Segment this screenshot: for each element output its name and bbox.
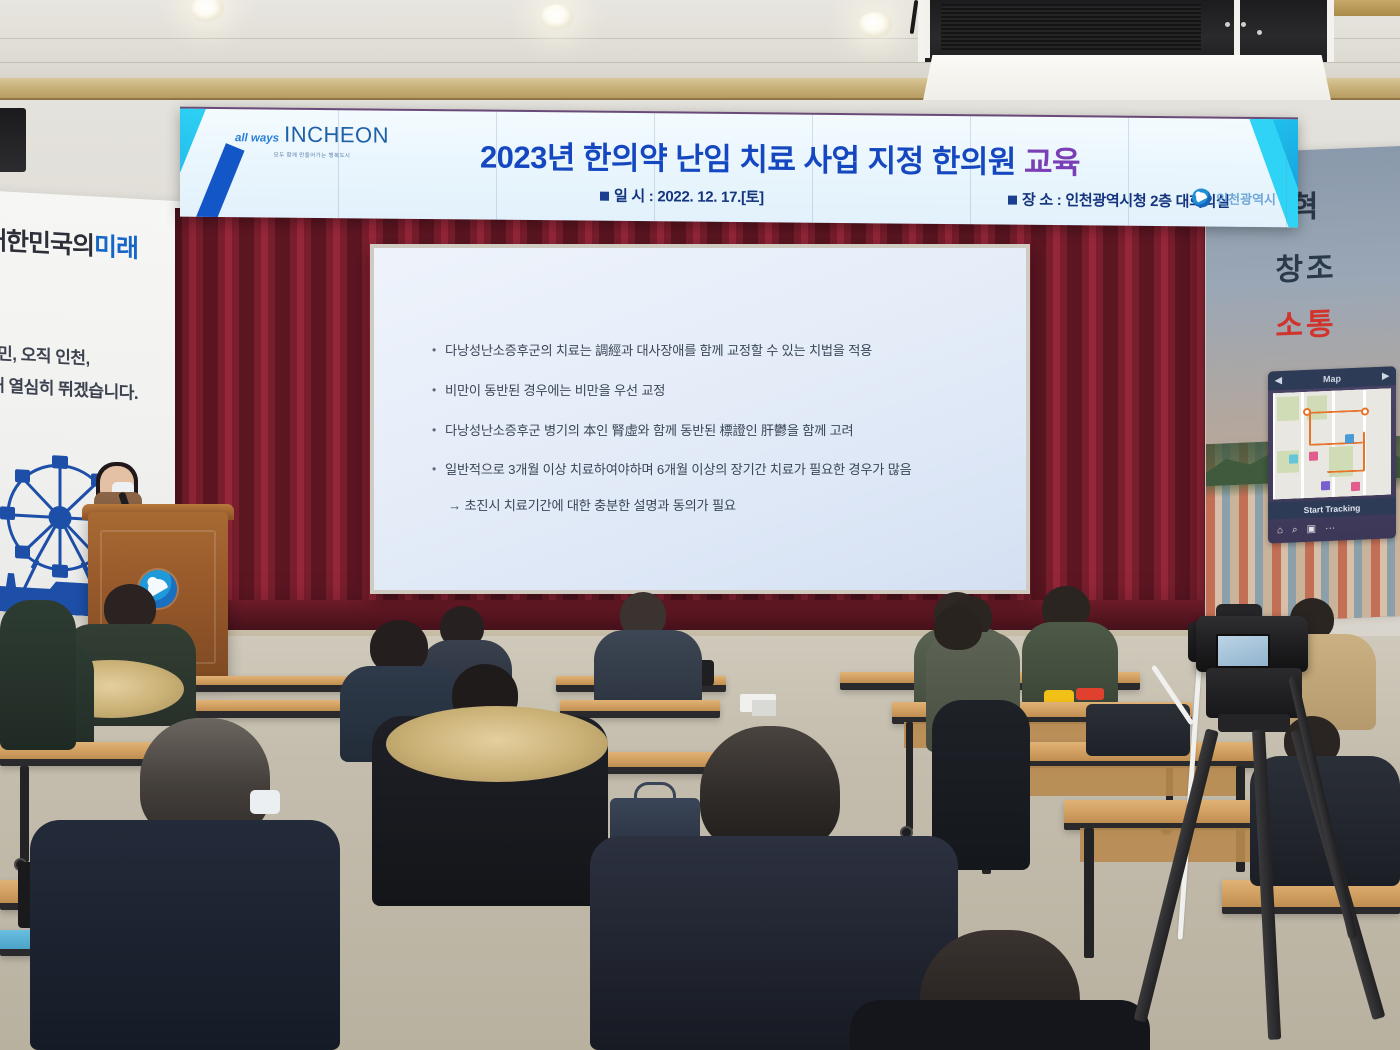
slide-bullet-1-text: 다낭성난소증후군의 치료는 調經과 대사장애를 함께 교정할 수 있는 치법을 … — [445, 342, 872, 360]
logo-subtitle: 모두 함께 만들어가는 행복도시 — [222, 150, 402, 160]
slide-bullet-3-text: 다낭성난소증후군 병기의 本인 腎虛와 함께 동반된 標證인 肝鬱을 함께 고려 — [445, 422, 853, 440]
bullet-square-icon — [1008, 196, 1017, 205]
bullet-marker-icon: • — [432, 422, 436, 438]
auditorium-scene: 대한민국의미래 시민, 오직 인천, 위해 열심히 뛰겠습니다. — [0, 0, 1400, 1050]
desk-bag — [1086, 704, 1190, 756]
slide-bullet-2-text: 비만이 동반된 경우에는 비만을 우선 교정 — [445, 382, 665, 400]
wall-speaker — [0, 108, 26, 172]
ceiling-light-1 — [190, 0, 224, 22]
banner-title-main: 2023년 한의약 난임 치료 사업 지정 한의원 — [480, 140, 1016, 180]
face-mask — [250, 790, 280, 814]
projector-vent-grill — [941, 4, 1201, 52]
slide-bullet-1: • 다낭성난소증후군의 치료는 調經과 대사장애를 함께 교정할 수 있는 치법… — [432, 342, 1000, 360]
logo-incheon-text: INCHEON — [284, 122, 389, 149]
left-banner-slogan-1: 시민, 오직 인천, — [0, 338, 180, 375]
tripod-head[interactable] — [1206, 668, 1302, 718]
desk — [560, 700, 720, 718]
projection-screen: • 다낭성난소증후군의 치료는 調經과 대사장애를 함께 교정할 수 있는 치법… — [374, 248, 1026, 590]
left-banner-headline: 대한민국의미래 — [0, 220, 180, 267]
phone-map-canvas[interactable] — [1273, 388, 1391, 499]
slide-bullet-4-text: 일반적으로 3개월 이상 치료하여야하며 6개월 이상의 장기간 치료가 필요한… — [445, 461, 912, 479]
led-banner: all ways INCHEON 모두 함께 만들어가는 행복도시 2023년 … — [180, 107, 1298, 228]
slide-bullet-3: • 다낭성난소증후군 병기의 本인 腎虛와 함께 동반된 標證인 肝鬱을 함께 … — [432, 422, 1000, 440]
phone-bottom-nav: ⌂ ⌕ ▣ ··· — [1268, 514, 1396, 541]
desk-item-red — [1076, 688, 1104, 700]
banner-date-line: 일 시 : 2022. 12. 17.[토] — [600, 185, 764, 208]
banner-place-label: 장 소 — [1022, 192, 1053, 209]
map-next-arrow-icon[interactable]: ▶ — [1382, 371, 1389, 382]
map-prev-arrow-icon[interactable]: ◀ — [1275, 375, 1282, 386]
desk — [176, 700, 362, 718]
poster-word-mid: 창조 — [1206, 240, 1400, 292]
bullet-marker-icon: • — [432, 461, 436, 477]
phone-mockup: ◀ Map ▶ Start Tracking ⌂ — [1268, 366, 1396, 543]
incheon-emblem-icon — [1192, 188, 1211, 207]
incheon-city-logo: 인천광역시 — [1192, 188, 1276, 208]
desk-papers — [752, 700, 776, 716]
left-banner-headline-highlight: 미래 — [94, 233, 138, 263]
bullet-marker-icon: • — [432, 382, 436, 398]
home-icon[interactable]: ⌂ — [1277, 524, 1283, 535]
bullet-square-icon — [600, 192, 609, 201]
projection-screen-frame: • 다낭성난소증후군의 치료는 調經과 대사장애를 함께 교정할 수 있는 치법… — [370, 244, 1030, 594]
phone-map-header: ◀ Map ▶ — [1268, 366, 1396, 390]
banner-date-label: 일 시 — [614, 188, 645, 205]
left-banner-headline-plain: 대한민국의 — [0, 226, 94, 260]
bag-handle — [634, 782, 676, 802]
slide-bullet-4: • 일반적으로 3개월 이상 치료하여야하며 6개월 이상의 장기간 치료가 필… — [432, 461, 1000, 479]
map-header-title: Map — [1323, 373, 1341, 384]
bullet-marker-icon: • — [432, 342, 436, 358]
poster-word-bottom: 소통 — [1206, 296, 1400, 348]
banner-date-value: 2022. 12. 17.[토] — [657, 188, 764, 206]
camera-icon[interactable]: ▣ — [1307, 523, 1316, 534]
left-banner-slogan-2: 위해 열심히 뛰겠습니다. — [0, 370, 180, 407]
banner-title-accent: 교육 — [1024, 145, 1080, 181]
ceiling-light-2 — [540, 4, 574, 30]
projector-housing — [918, 0, 1334, 62]
search-icon[interactable]: ⌕ — [1292, 524, 1298, 535]
incheon-city-name: 인천광역시 — [1216, 189, 1276, 209]
slide-content: • 다낭성난소증후군의 치료는 調經과 대사장애를 함께 교정할 수 있는 치법… — [432, 342, 1000, 514]
slide-conclusion: → 초진시 치료기간에 대한 충분한 설명과 동의가 필요 — [448, 495, 1000, 514]
more-icon[interactable]: ··· — [1325, 522, 1335, 533]
logo-all-ways-text: all ways — [235, 132, 279, 144]
ceiling-light-3 — [858, 12, 892, 38]
banner-title: 2023년 한의약 난임 치료 사업 지정 한의원 교육 — [385, 131, 1175, 184]
slide-bullet-2: • 비만이 동반된 경우에는 비만을 우선 교정 — [432, 382, 1000, 400]
camera-lcd-screen[interactable] — [1216, 634, 1270, 668]
all-ways-incheon-logo: all ways INCHEON 모두 함께 만들어가는 행복도시 — [222, 121, 402, 160]
